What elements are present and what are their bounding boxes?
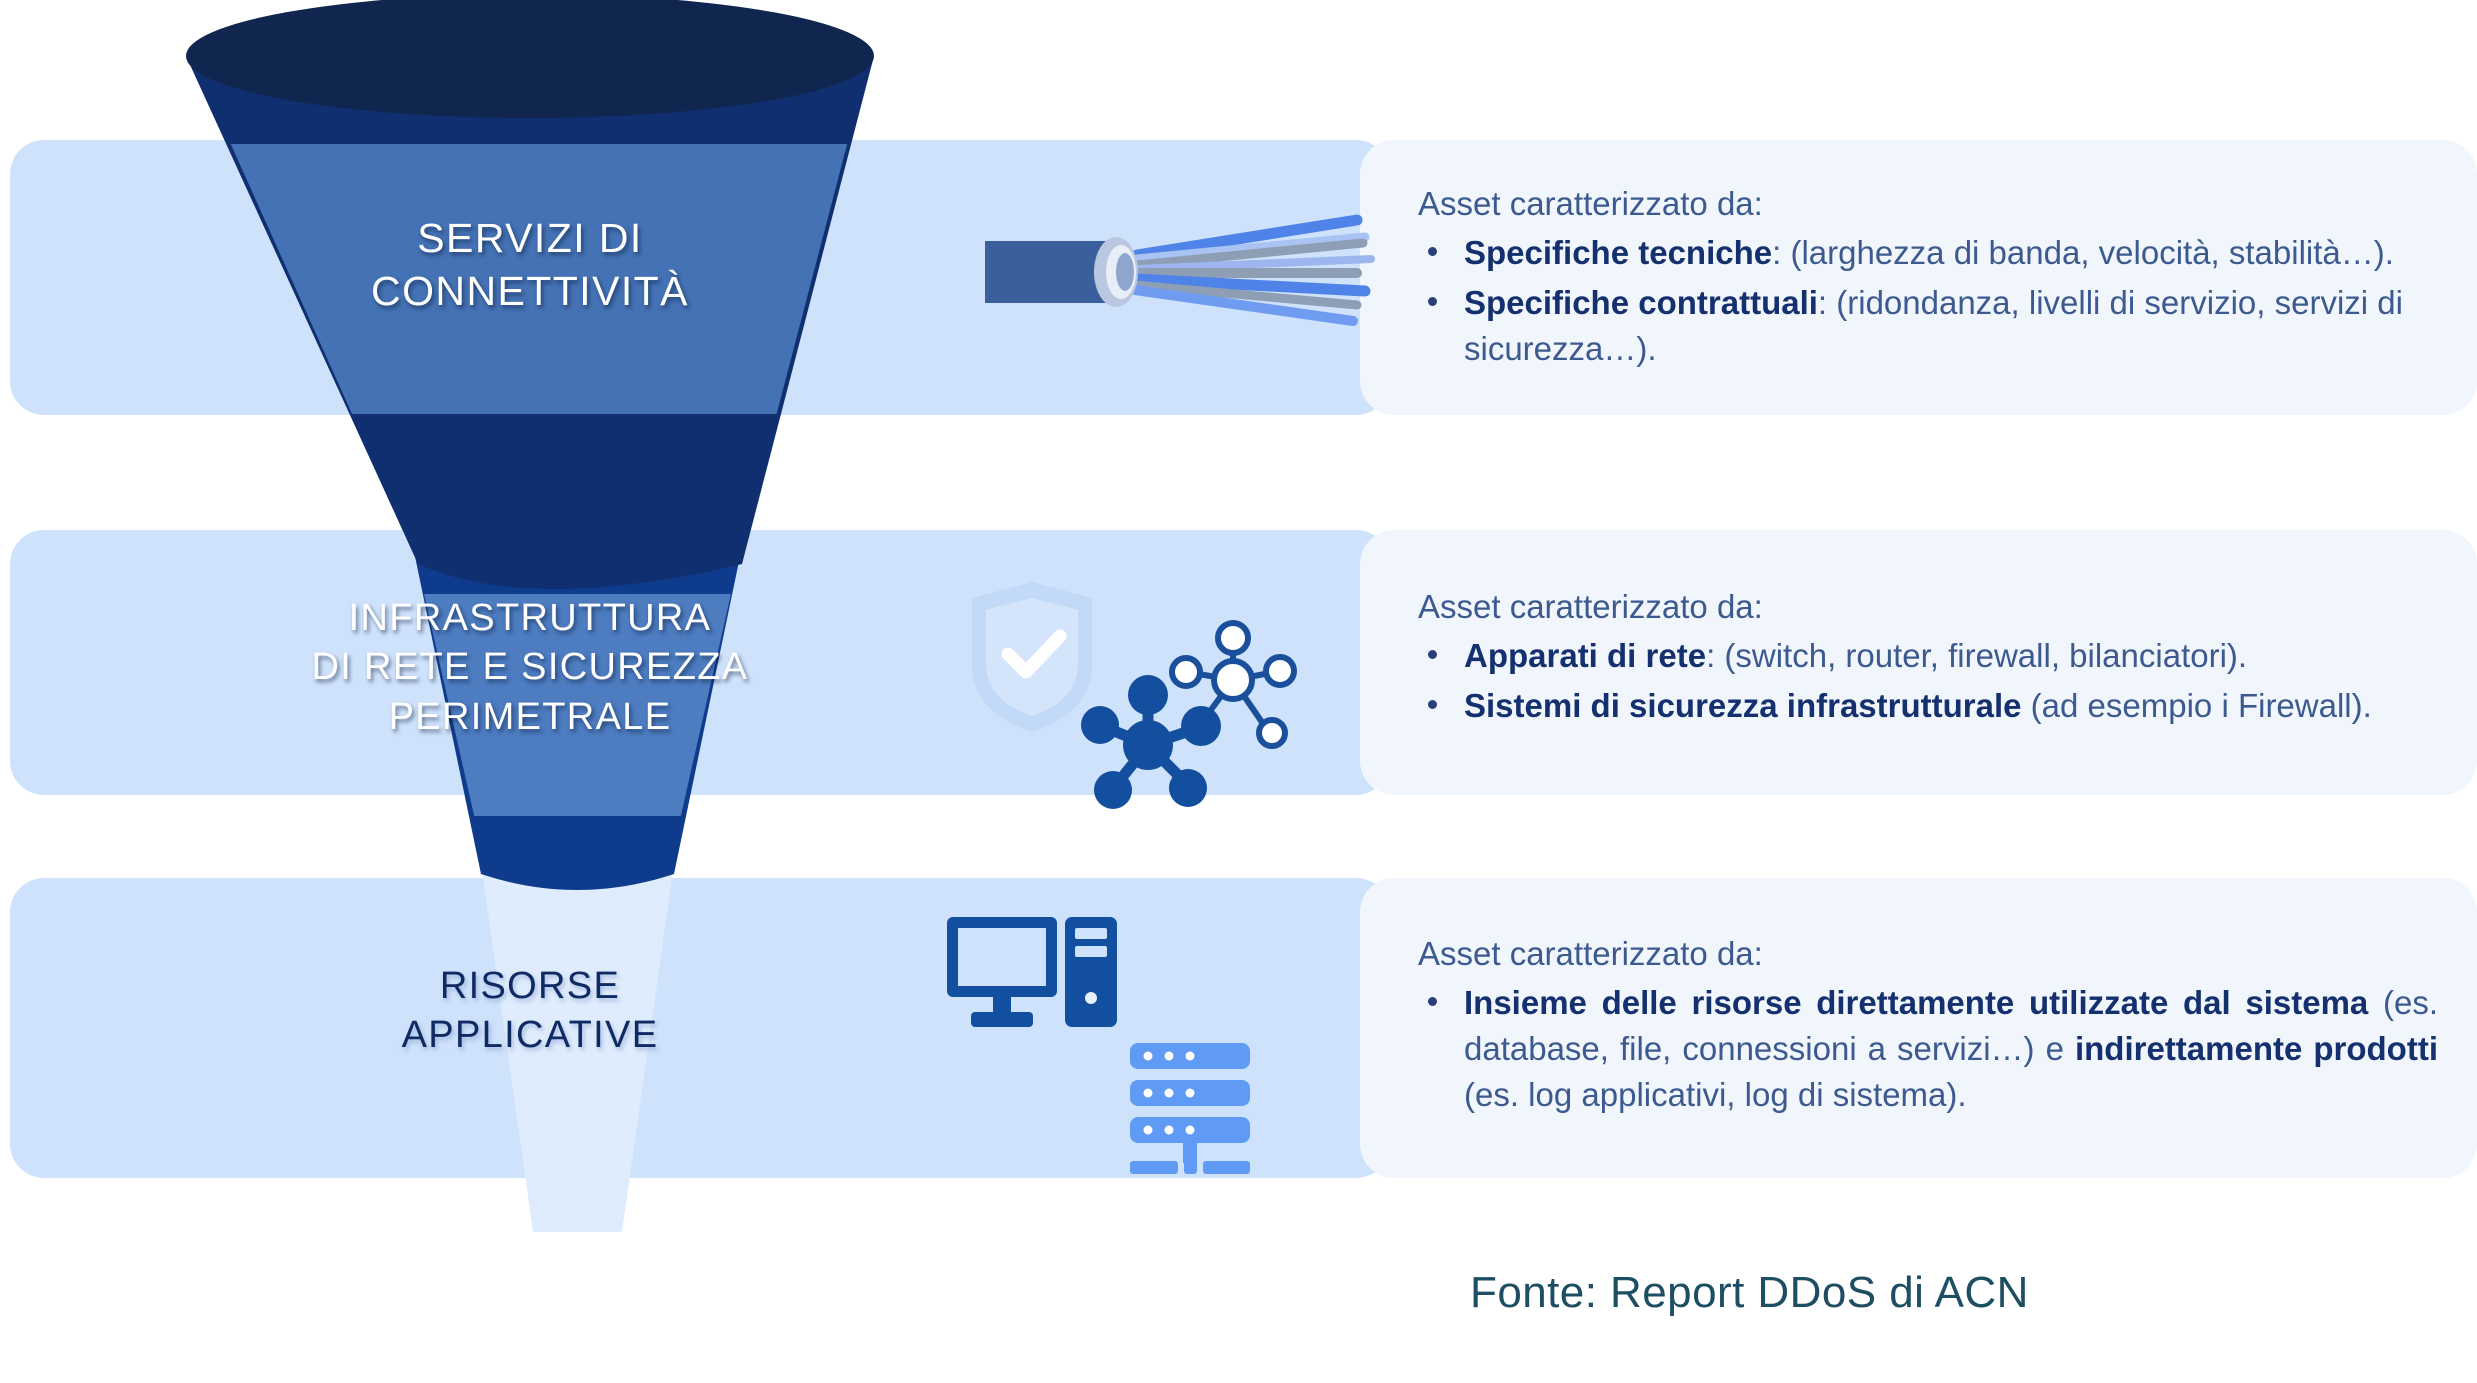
funnel-label-connettivita: SERVIZI DI CONNETTIVITÀ bbox=[180, 212, 880, 319]
funnel-label-risorse-line-1: RISORSE bbox=[180, 962, 880, 1011]
asset-description-infrastruttura: Asset caratterizzato da: Apparati di ret… bbox=[1418, 588, 2438, 733]
asset-bullet-list-connettivita: Specifiche tecniche: (larghezza di banda… bbox=[1418, 230, 2438, 373]
list-item: Insieme delle risorse direttamente utili… bbox=[1418, 980, 2438, 1119]
funnel-label-infrastruttura-line-2: DI RETE E SICUREZZA bbox=[180, 643, 880, 692]
asset-heading-risorse: Asset caratterizzato da: bbox=[1418, 935, 2438, 973]
bullet-dot-icon bbox=[1428, 700, 1437, 709]
bullet-bold-text: Sistemi di sicurezza infrastrutturale bbox=[1464, 687, 2022, 724]
asset-bullet-list-risorse: Insieme delle risorse direttamente utili… bbox=[1418, 980, 2438, 1119]
list-item: Apparati di rete: (switch, router, firew… bbox=[1418, 633, 2438, 679]
bullet-bold-text-2: indirettamente prodotti bbox=[2075, 1030, 2438, 1067]
asset-heading-infrastruttura: Asset caratterizzato da: bbox=[1418, 588, 2438, 626]
bullet-rest-text: : (switch, router, firewall, bilanciator… bbox=[1706, 637, 2247, 674]
list-item: Sistemi di sicurezza infrastrutturale (a… bbox=[1418, 683, 2438, 729]
source-caption: Fonte: Report DDoS di ACN bbox=[1470, 1268, 2029, 1318]
shield-check-icon bbox=[972, 582, 1092, 732]
bullet-bold-text: Insieme delle risorse direttamente utili… bbox=[1464, 984, 2368, 1021]
bullet-bold-text: Specifiche contrattuali bbox=[1464, 284, 1818, 321]
asset-description-risorse: Asset caratterizzato da: Insieme delle r… bbox=[1418, 935, 2438, 1123]
server-stack-icon bbox=[1130, 1043, 1250, 1174]
funnel-label-infrastruttura-line-3: PERIMETRALE bbox=[180, 693, 880, 742]
bullet-bold-text: Specifiche tecniche bbox=[1464, 234, 1772, 271]
asset-funnel: SERVIZI DI CONNETTIVITÀ INFRASTRUTTURA D… bbox=[180, 0, 880, 1224]
bullet-rest-text: (ad esempio i Firewall). bbox=[2022, 687, 2372, 724]
asset-heading-connettivita: Asset caratterizzato da: bbox=[1418, 185, 2438, 223]
funnel-label-infrastruttura: INFRASTRUTTURA DI RETE E SICUREZZA PERIM… bbox=[180, 594, 880, 742]
bullet-dot-icon bbox=[1428, 297, 1437, 306]
desktop-server-icon bbox=[945, 915, 1345, 1180]
tower-icon bbox=[1065, 917, 1117, 1027]
network-nodes-filled bbox=[1081, 675, 1221, 809]
asset-description-connettivita: Asset caratterizzato da: Specifiche tecn… bbox=[1418, 185, 2438, 377]
funnel-label-infrastruttura-line-1: INFRASTRUTTURA bbox=[180, 594, 880, 643]
bullet-dot-icon bbox=[1428, 247, 1437, 256]
bullet-dot-icon bbox=[1428, 650, 1437, 659]
bullet-rest-text-2: (es. log applicativi, log di sistema). bbox=[1464, 1076, 1967, 1113]
bullet-dot-icon bbox=[1428, 997, 1437, 1006]
shield-network-icon bbox=[950, 580, 1350, 810]
bullet-bold-text: Apparati di rete bbox=[1464, 637, 1706, 674]
funnel-label-risorse-line-2: APPLICATIVE bbox=[180, 1011, 880, 1060]
diagram-canvas: SERVIZI DI CONNETTIVITÀ INFRASTRUTTURA D… bbox=[0, 0, 2477, 1383]
monitor-icon bbox=[947, 917, 1057, 1027]
list-item: Specifiche tecniche: (larghezza di banda… bbox=[1418, 230, 2438, 276]
asset-bullet-list-infrastruttura: Apparati di rete: (switch, router, firew… bbox=[1418, 633, 2438, 729]
list-item: Specifiche contrattuali: (ridondanza, li… bbox=[1418, 280, 2438, 372]
bullet-rest-text: : (larghezza di banda, velocità, stabili… bbox=[1772, 234, 2394, 271]
funnel-label-risorse: RISORSE APPLICATIVE bbox=[180, 962, 880, 1061]
funnel-label-connettivita-line-1: SERVIZI DI bbox=[180, 212, 880, 265]
fiber-optic-cable-icon bbox=[985, 195, 1385, 345]
funnel-label-connettivita-line-2: CONNETTIVITÀ bbox=[180, 265, 880, 318]
